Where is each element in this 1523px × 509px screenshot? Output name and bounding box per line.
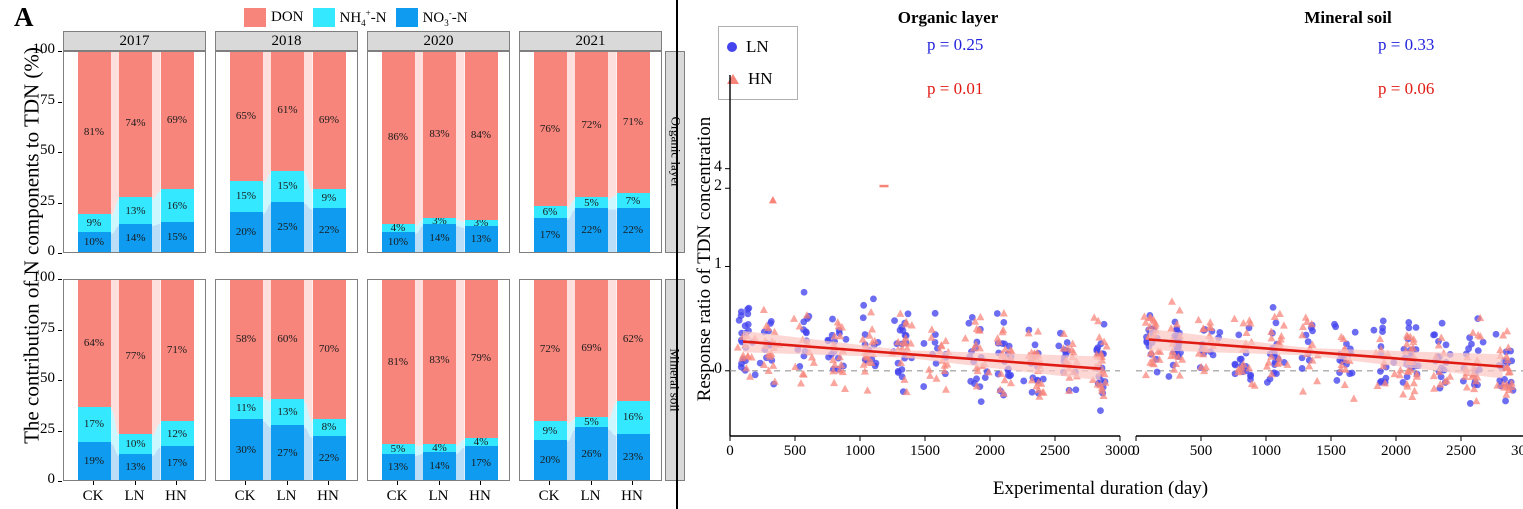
- segment-value-label: 13%: [125, 205, 145, 217]
- segment-no3: 26%: [575, 427, 608, 480]
- facet-strip-year-2021: 2021: [519, 31, 662, 51]
- segment-value-label: 23%: [623, 451, 643, 463]
- plot-panel-2018-organic: 20%15%65%25%15%61%22%9%69%: [215, 51, 358, 253]
- x-tick-mark: [549, 481, 550, 485]
- data-point-ln: [1439, 320, 1446, 327]
- segment-don: 71%: [617, 51, 650, 193]
- segment-don: 64%: [78, 279, 111, 407]
- segment-don: 83%: [423, 279, 456, 444]
- segment-value-label: 10%: [84, 236, 104, 248]
- x-tick-mark: [632, 481, 633, 485]
- segment-value-label: 16%: [623, 411, 643, 423]
- data-point-hn: [771, 377, 779, 384]
- segment-no3: 22%: [313, 208, 346, 252]
- segment-no3: 14%: [423, 224, 456, 252]
- data-point-hn: [760, 306, 768, 313]
- data-point-ln: [897, 327, 904, 334]
- segment-nh4: 4%: [423, 444, 456, 452]
- stacked-bar-CK[interactable]: 20%15%65%: [230, 51, 263, 252]
- legend-item-don: DON: [244, 8, 304, 27]
- x-tick-mark: [135, 481, 136, 485]
- stacked-bar-CK[interactable]: 19%17%64%: [78, 279, 111, 480]
- segment-don: 81%: [382, 280, 415, 444]
- data-point-hn: [1469, 329, 1477, 336]
- segment-value-label: 22%: [319, 452, 339, 464]
- y-tick-mark: [58, 253, 62, 254]
- segment-value-label: 13%: [471, 233, 491, 245]
- flow-don: [304, 52, 313, 253]
- segment-value-label: 6%: [543, 206, 558, 218]
- segment-value-label: 7%: [626, 195, 641, 207]
- flow-don: [111, 52, 120, 253]
- segment-don: 65%: [230, 51, 263, 181]
- data-point-ln: [1007, 372, 1014, 379]
- data-point-ln: [1101, 321, 1108, 328]
- data-point-hn-outlier: [769, 196, 777, 203]
- y-tick-label: 50: [19, 142, 55, 159]
- data-point-hn: [1280, 321, 1288, 328]
- segment-no3: 10%: [382, 232, 415, 252]
- segment-value-label: 9%: [543, 425, 558, 437]
- data-point-ln: [1166, 373, 1173, 380]
- data-point-ln: [870, 296, 877, 303]
- data-point-ln: [801, 289, 808, 296]
- data-point-hn: [1302, 313, 1310, 320]
- data-point-ln: [860, 314, 867, 321]
- y-tick-mark: [58, 152, 62, 153]
- data-point-ln: [920, 383, 927, 390]
- data-point-ln: [1475, 347, 1482, 354]
- flow-don: [567, 52, 576, 253]
- segment-nh4: 12%: [161, 421, 194, 445]
- y-tick-mark: [58, 380, 62, 381]
- segment-value-label: 16%: [167, 200, 187, 212]
- segment-nh4: 9%: [313, 189, 346, 207]
- segment-value-label: 65%: [236, 110, 256, 122]
- data-point-ln: [744, 306, 751, 313]
- panel-a-stacked-bars: A DON NH4+-N NO3--N The contribution of …: [0, 0, 676, 509]
- data-point-ln: [768, 318, 775, 325]
- data-point-ln: [1371, 327, 1378, 334]
- segment-value-label: 9%: [87, 217, 102, 229]
- segment-value-label: 19%: [84, 455, 104, 467]
- data-point-ln: [1000, 319, 1007, 326]
- segment-no3: 15%: [161, 222, 194, 252]
- legend-swatch-nh4: [313, 8, 335, 27]
- data-point-hn: [942, 385, 950, 392]
- segment-value-label: 72%: [540, 343, 560, 355]
- scatter-svg: [678, 0, 1523, 509]
- segment-value-label: 20%: [540, 454, 560, 466]
- flow-don: [152, 280, 161, 481]
- stacked-bar-CK[interactable]: 10%9%81%: [78, 51, 111, 252]
- data-point-hn: [932, 374, 940, 381]
- stacked-bar-HN[interactable]: 15%16%69%: [161, 51, 194, 252]
- y-tick-label: 100: [19, 41, 55, 58]
- x-tick-label-CK: CK: [377, 488, 417, 505]
- data-point-hn: [1376, 335, 1384, 342]
- segment-value-label: 17%: [540, 229, 560, 241]
- legend-label-no3: NO3--N: [423, 8, 468, 28]
- data-point-ln: [1502, 398, 1509, 405]
- segment-value-label: 70%: [319, 343, 339, 355]
- data-point-hn: [841, 385, 849, 392]
- x-tick-label-CK: CK: [225, 488, 265, 505]
- legend-label-don: DON: [271, 9, 304, 26]
- data-point-ln: [1493, 331, 1500, 338]
- segment-value-label: 15%: [167, 231, 187, 243]
- data-point-ln: [978, 398, 985, 405]
- flow-don: [304, 280, 313, 481]
- stacked-bar-LN[interactable]: 14%3%83%: [423, 51, 456, 252]
- flow-don: [111, 280, 120, 481]
- stacked-bar-LN[interactable]: 27%13%60%: [271, 279, 304, 480]
- segment-nh4: 3%: [423, 218, 456, 224]
- segment-value-label: 76%: [540, 123, 560, 135]
- data-point-hn: [1472, 397, 1480, 404]
- segment-value-label: 17%: [471, 457, 491, 469]
- segment-value-label: 12%: [167, 428, 187, 440]
- plot-panel-2021-mineral: 20%9%72%26%5%69%23%16%62%: [519, 279, 662, 481]
- segment-value-label: 58%: [236, 333, 256, 345]
- y-tick-label: 100: [19, 269, 55, 286]
- panel-a-facet-grid: Organic layerMineral soil100755025010075…: [63, 31, 676, 479]
- segment-value-label: 22%: [623, 224, 643, 236]
- data-point-ln: [1032, 341, 1039, 348]
- facet-strip-year-2020: 2020: [367, 31, 510, 51]
- data-point-ln: [1237, 356, 1244, 363]
- segment-don: 74%: [119, 51, 152, 197]
- segment-value-label: 3%: [474, 220, 489, 226]
- segment-value-label: 3%: [432, 218, 447, 224]
- segment-don: 58%: [230, 280, 263, 397]
- segment-value-label: 60%: [277, 333, 297, 345]
- data-point-hn: [928, 325, 936, 332]
- data-point-hn: [1195, 316, 1203, 323]
- segment-value-label: 15%: [277, 180, 297, 192]
- y-tick-label: 50: [19, 370, 55, 387]
- flow-don: [415, 52, 424, 253]
- segment-don: 72%: [534, 279, 567, 421]
- x-tick-mark: [591, 481, 592, 485]
- segment-don: 69%: [575, 279, 608, 417]
- data-point-hn: [1341, 381, 1349, 388]
- segment-no3: 20%: [534, 440, 567, 480]
- stacked-bar-HN[interactable]: 17%12%71%: [161, 279, 194, 480]
- segment-no3: 10%: [78, 232, 111, 252]
- y-tick-mark: [58, 330, 62, 331]
- segment-value-label: 69%: [167, 114, 187, 126]
- segment-nh4: 7%: [617, 193, 650, 207]
- data-point-ln: [745, 321, 752, 328]
- data-point-ln: [803, 329, 810, 336]
- segment-value-label: 5%: [584, 417, 599, 427]
- stacked-bar-LN[interactable]: 25%15%61%: [271, 51, 304, 252]
- segment-no3: 23%: [617, 434, 650, 480]
- y-tick-mark: [58, 481, 62, 482]
- figure-root: A DON NH4+-N NO3--N The contribution of …: [0, 0, 1523, 509]
- data-point-ln: [843, 336, 850, 343]
- data-point-hn: [1496, 346, 1504, 353]
- stacked-bar-HN[interactable]: 13%3%84%: [465, 51, 498, 252]
- y-tick-label: 75: [19, 320, 55, 337]
- stacked-bar-LN[interactable]: 14%13%74%: [119, 51, 152, 252]
- plot-panel-2017-organic: 10%9%81%14%13%74%15%16%69%: [63, 51, 206, 253]
- segment-value-label: 26%: [581, 448, 601, 460]
- segment-value-label: 69%: [319, 114, 339, 126]
- segment-don: 69%: [161, 51, 194, 189]
- data-point-hn: [1350, 394, 1358, 401]
- x-tick-label-CK: CK: [529, 488, 569, 505]
- segment-nh4: 16%: [161, 189, 194, 221]
- segment-don: 62%: [617, 279, 650, 401]
- segment-value-label: 64%: [84, 337, 104, 349]
- segment-no3: 17%: [465, 446, 498, 480]
- data-point-ln: [738, 308, 745, 315]
- data-point-hn: [1503, 327, 1511, 334]
- segment-value-label: 14%: [125, 232, 145, 244]
- data-point-ln: [860, 302, 867, 309]
- segment-nh4: 5%: [575, 197, 608, 207]
- segment-value-label: 15%: [236, 190, 256, 202]
- x-tick-label-LN: LN: [115, 488, 155, 505]
- x-tick-mark: [397, 481, 398, 485]
- stacked-bar-LN[interactable]: 22%5%72%: [575, 51, 608, 252]
- data-point-ln: [1443, 341, 1450, 348]
- segment-don: 76%: [534, 52, 567, 206]
- data-point-hn-high: [880, 185, 889, 188]
- plot-panel-2020-mineral: 13%5%81%14%4%83%17%4%79%: [367, 279, 510, 481]
- data-point-hn: [1095, 333, 1103, 340]
- y-tick-mark: [58, 51, 62, 52]
- flow-don: [567, 280, 576, 481]
- legend-label-nh4: NH4+-N: [340, 8, 387, 28]
- y-tick-label: 75: [19, 92, 55, 109]
- segment-value-label: 25%: [277, 221, 297, 233]
- data-point-hn: [790, 315, 798, 322]
- plot-panel-2018-mineral: 30%11%58%27%13%60%22%8%70%: [215, 279, 358, 481]
- data-point-hn: [942, 337, 950, 344]
- segment-nh4: 5%: [575, 417, 608, 427]
- x-tick-mark: [245, 481, 246, 485]
- data-point-ln: [905, 310, 912, 317]
- segment-value-label: 14%: [429, 460, 449, 472]
- segment-nh4: 15%: [271, 171, 304, 201]
- data-point-hn: [1437, 334, 1445, 341]
- data-point-ln: [1465, 345, 1472, 352]
- segment-nh4: 8%: [313, 419, 346, 435]
- x-tick-label-LN: LN: [267, 488, 307, 505]
- data-point-ln: [994, 310, 1001, 317]
- data-point-ln: [1405, 319, 1412, 326]
- data-point-ln: [1097, 407, 1104, 414]
- data-point-ln: [1299, 365, 1306, 372]
- stacked-bar-LN[interactable]: 26%5%69%: [575, 279, 608, 480]
- flow-don: [152, 52, 161, 253]
- segment-don: 77%: [119, 279, 152, 434]
- segment-value-label: 5%: [584, 197, 599, 207]
- x-tick-mark: [93, 481, 94, 485]
- data-point-ln: [1352, 329, 1359, 336]
- x-tick-label-LN: LN: [419, 488, 459, 505]
- data-point-hn: [994, 334, 1002, 341]
- stacked-bar-LN[interactable]: 14%4%83%: [423, 279, 456, 480]
- data-point-hn: [961, 334, 969, 341]
- segment-value-label: 20%: [236, 226, 256, 238]
- data-point-hn: [868, 325, 876, 332]
- x-tick-label-CK: CK: [73, 488, 113, 505]
- segment-don: 83%: [423, 51, 456, 218]
- segment-don: 70%: [313, 279, 346, 419]
- flow-don: [456, 52, 465, 253]
- x-tick-mark: [439, 481, 440, 485]
- stacked-bar-CK[interactable]: 13%5%81%: [382, 279, 415, 480]
- plot-panel-2021-organic: 17%6%76%22%5%72%22%7%71%: [519, 51, 662, 253]
- data-point-hn: [830, 379, 838, 386]
- data-point-ln: [829, 316, 836, 323]
- stacked-bar-CK[interactable]: 30%11%58%: [230, 279, 263, 480]
- legend-swatch-no3: [396, 8, 418, 27]
- plot-panel-2017-mineral: 19%17%64%13%10%77%17%12%71%: [63, 279, 206, 481]
- segment-don: 81%: [78, 51, 111, 214]
- data-point-ln: [891, 317, 898, 324]
- y-tick-label: 25: [19, 421, 55, 438]
- data-point-ln: [1232, 361, 1239, 368]
- facet-strip-year-label: 2020: [424, 33, 454, 50]
- data-point-ln: [1349, 370, 1356, 377]
- segment-value-label: 74%: [125, 117, 145, 129]
- data-point-hn: [1276, 310, 1284, 317]
- flow-don: [608, 52, 617, 253]
- stacked-bar-CK[interactable]: 20%9%72%: [534, 279, 567, 480]
- y-tick-label: 0: [19, 471, 55, 488]
- data-point-ln: [895, 368, 902, 375]
- segment-value-label: 5%: [391, 444, 406, 454]
- data-point-hn: [1176, 306, 1184, 313]
- stacked-bar-CK[interactable]: 10%4%86%: [382, 51, 415, 252]
- stacked-bar-CK[interactable]: 17%6%76%: [534, 51, 567, 252]
- segment-no3: 14%: [119, 224, 152, 252]
- facet-strip-year-2018: 2018: [215, 31, 358, 51]
- segment-value-label: 86%: [388, 131, 408, 143]
- segment-value-label: 13%: [125, 461, 145, 473]
- legend-swatch-don: [244, 8, 266, 27]
- flow-don: [263, 52, 272, 253]
- segment-don: 61%: [271, 51, 304, 171]
- data-point-hn: [1034, 327, 1042, 334]
- data-point-ln: [1264, 379, 1271, 386]
- segment-nh4: 5%: [382, 444, 415, 454]
- stacked-bar-HN[interactable]: 23%16%62%: [617, 279, 650, 480]
- segment-no3: 22%: [575, 208, 608, 252]
- segment-no3: 17%: [534, 218, 567, 252]
- data-point-hn: [1206, 318, 1214, 325]
- data-point-ln: [752, 371, 759, 378]
- data-point-hn: [1313, 377, 1321, 384]
- segment-value-label: 84%: [471, 129, 491, 141]
- segment-nh4: 15%: [230, 181, 263, 211]
- segment-no3: 13%: [465, 226, 498, 252]
- segment-value-label: 81%: [388, 356, 408, 368]
- data-point-hn: [864, 386, 872, 393]
- stacked-bar-HN[interactable]: 22%9%69%: [313, 51, 346, 252]
- segment-no3: 14%: [423, 452, 456, 480]
- segment-value-label: 17%: [167, 457, 187, 469]
- facet-strip-year-2017: 2017: [63, 31, 206, 51]
- segment-nh4: 10%: [119, 434, 152, 454]
- facet-strip-year-label: 2018: [272, 33, 302, 50]
- panel-b-scatter: Response ratio of TDN concentration Expe…: [676, 0, 1523, 509]
- data-point-ln: [1072, 386, 1079, 393]
- y-tick-label: 25: [19, 193, 55, 210]
- facet-strip-year-label: 2021: [576, 33, 606, 50]
- segment-nh4: 4%: [465, 438, 498, 446]
- data-point-hn: [925, 365, 933, 372]
- segment-don: 69%: [313, 51, 346, 189]
- segment-don: 84%: [465, 51, 498, 220]
- y-tick-mark: [58, 279, 62, 280]
- data-point-hn: [999, 326, 1007, 333]
- x-tick-mark: [480, 481, 481, 485]
- segment-nh4: 9%: [534, 421, 567, 439]
- segment-value-label: 14%: [429, 232, 449, 244]
- segment-value-label: 13%: [277, 406, 297, 418]
- data-point-hn: [896, 309, 904, 316]
- x-tick-mark: [176, 481, 177, 485]
- data-point-hn: [1504, 343, 1512, 350]
- data-point-hn: [1410, 379, 1418, 386]
- data-point-ln: [1029, 389, 1036, 396]
- data-point-hn: [1410, 387, 1418, 394]
- segment-don: 71%: [161, 279, 194, 421]
- segment-value-label: 71%: [623, 116, 643, 128]
- stacked-bar-HN[interactable]: 22%7%71%: [617, 51, 650, 252]
- segment-value-label: 22%: [319, 224, 339, 236]
- y-tick-mark: [58, 203, 62, 204]
- y-tick-mark: [58, 431, 62, 432]
- bar-chart-legend: DON NH4+-N NO3--N: [243, 4, 535, 31]
- segment-value-label: 13%: [388, 461, 408, 473]
- segment-nh4: 11%: [230, 397, 263, 419]
- segment-nh4: 4%: [382, 224, 415, 232]
- data-point-ln: [921, 340, 928, 347]
- segment-value-label: 4%: [391, 224, 406, 232]
- x-tick-label-HN: HN: [460, 488, 500, 505]
- facet-strip-year-label: 2017: [120, 33, 150, 50]
- stacked-bar-HN[interactable]: 22%8%70%: [313, 279, 346, 480]
- data-point-ln: [1333, 377, 1340, 384]
- segment-value-label: 17%: [84, 418, 104, 430]
- data-point-ln: [932, 310, 939, 317]
- segment-nh4: 3%: [465, 220, 498, 226]
- segment-don: 79%: [465, 279, 498, 438]
- data-point-ln: [1273, 319, 1280, 326]
- y-tick-mark: [58, 102, 62, 103]
- segment-don: 60%: [271, 279, 304, 399]
- data-point-ln: [1467, 400, 1474, 407]
- segment-value-label: 62%: [623, 333, 643, 345]
- segment-value-label: 71%: [167, 344, 187, 356]
- segment-no3: 17%: [161, 446, 194, 480]
- x-tick-label-HN: HN: [612, 488, 652, 505]
- data-point-ln: [1413, 324, 1420, 331]
- x-tick-label-LN: LN: [571, 488, 611, 505]
- data-point-ln: [1431, 331, 1438, 338]
- segment-don: 86%: [382, 51, 415, 224]
- data-point-hn: [1277, 332, 1285, 339]
- stacked-bar-LN[interactable]: 13%10%77%: [119, 279, 152, 480]
- stacked-bar-HN[interactable]: 17%4%79%: [465, 279, 498, 480]
